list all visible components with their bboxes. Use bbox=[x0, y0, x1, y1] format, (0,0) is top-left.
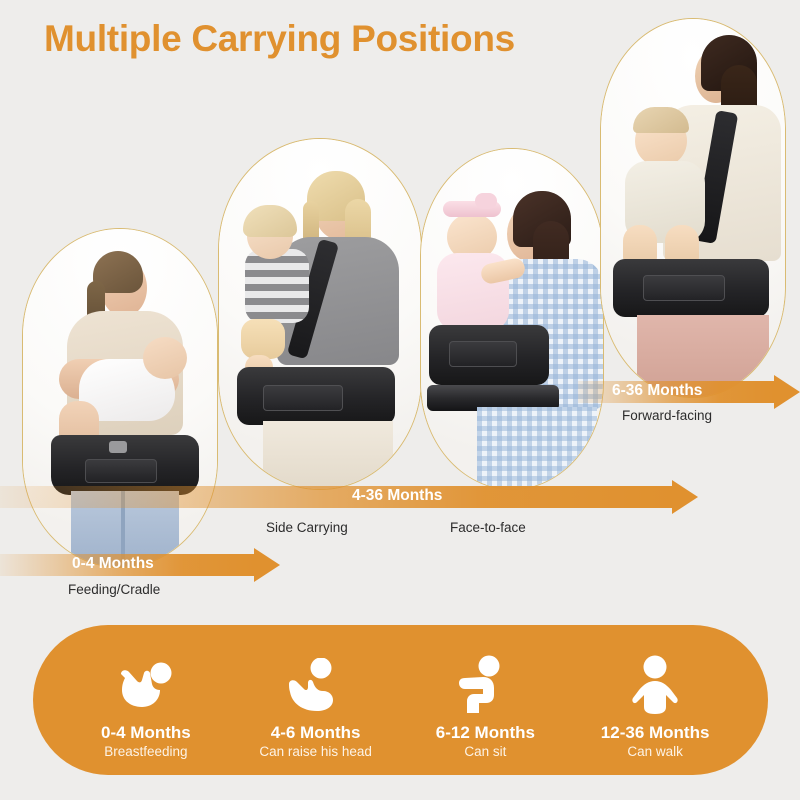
milestone-item: 12-36 Months Can walk bbox=[570, 641, 740, 759]
caption-forward-facing: Forward-facing bbox=[622, 408, 712, 423]
arrow-head-icon bbox=[672, 480, 698, 514]
caption-feeding-cradle: Feeding/Cradle bbox=[68, 582, 160, 597]
milestone-title: 4-6 Months bbox=[271, 723, 361, 743]
milestone-item: 6-12 Months Can sit bbox=[401, 641, 571, 759]
caption-face-to-face: Face-to-face bbox=[450, 520, 526, 535]
arrow-side-and-face: 4-36 Months bbox=[0, 480, 700, 514]
arrow-forward-facing: 6-36 Months bbox=[578, 375, 800, 409]
milestone-subtitle: Breastfeeding bbox=[104, 744, 187, 759]
baby-standing-icon bbox=[627, 655, 683, 717]
milestone-subtitle: Can raise his head bbox=[259, 744, 372, 759]
milestone-title: 6-12 Months bbox=[436, 723, 535, 743]
baby-head-up-icon bbox=[285, 655, 347, 717]
milestone-item: 4-6 Months Can raise his head bbox=[231, 641, 401, 759]
milestone-panel: 0-4 Months Breastfeeding 4-6 Months Can … bbox=[33, 625, 768, 775]
arrow-feeding-cradle: 0-4 Months bbox=[0, 548, 282, 582]
infographic-root: Multiple Carrying Positions bbox=[0, 0, 800, 800]
side-carrying-photo bbox=[218, 138, 422, 490]
photo-illustration bbox=[23, 229, 217, 567]
baby-sitting-icon bbox=[457, 655, 513, 717]
arrow-head-icon bbox=[254, 548, 280, 582]
milestone-title: 0-4 Months bbox=[101, 723, 191, 743]
arrow-head-icon bbox=[774, 375, 800, 409]
photo-illustration bbox=[421, 149, 603, 489]
arrow-label: 6-36 Months bbox=[612, 382, 702, 400]
caption-side-carrying: Side Carrying bbox=[266, 520, 348, 535]
milestone-title: 12-36 Months bbox=[601, 723, 710, 743]
photo-illustration bbox=[219, 139, 421, 489]
face-to-face-photo bbox=[420, 148, 604, 490]
milestone-item: 0-4 Months Breastfeeding bbox=[61, 641, 231, 759]
forward-facing-photo bbox=[600, 18, 786, 398]
arrow-label: 4-36 Months bbox=[352, 487, 442, 505]
photo-illustration bbox=[601, 19, 785, 397]
arrow-shaft bbox=[0, 486, 672, 508]
baby-lying-icon bbox=[115, 655, 177, 717]
milestone-subtitle: Can walk bbox=[627, 744, 683, 759]
arrow-label: 0-4 Months bbox=[72, 555, 154, 573]
feeding-cradle-photo bbox=[22, 228, 218, 568]
page-title: Multiple Carrying Positions bbox=[44, 18, 515, 60]
milestone-subtitle: Can sit bbox=[464, 744, 506, 759]
